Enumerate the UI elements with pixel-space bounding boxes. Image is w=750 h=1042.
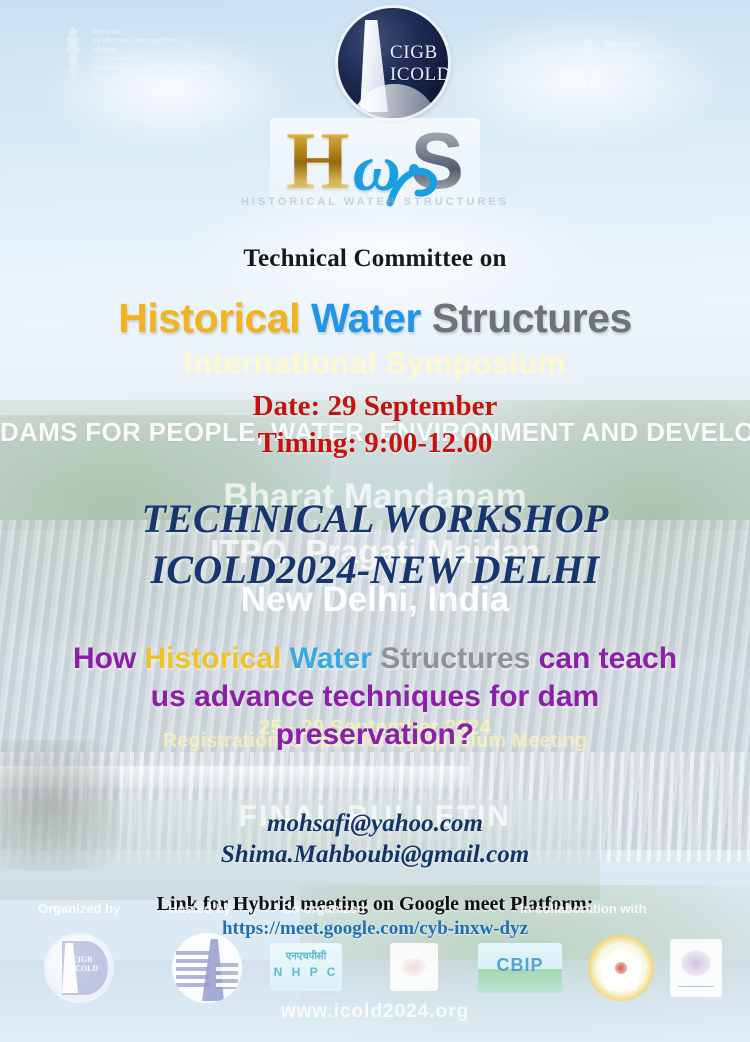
inchold-dam-logo [172, 933, 242, 1003]
contact-emails: mohsafi@yahoo.com Shima.Mahboubi@gmail.c… [0, 808, 750, 870]
partner-divider [678, 986, 714, 987]
contact-email-1[interactable]: mohsafi@yahoo.com [0, 808, 750, 839]
mop-hindi: विद्युत मंत्रालय [605, 40, 666, 51]
cbip-label: CBIP [478, 955, 562, 976]
hws-letter-h: H [286, 120, 350, 202]
partner-emblem-icon [402, 958, 426, 976]
cbip-logo: CBIP [478, 943, 562, 993]
emblem-left-line-0: भारत सरकार [92, 30, 214, 37]
title-part-water: Water [311, 295, 421, 341]
event-time: Timing: 9:00-12.00 [0, 425, 750, 462]
question-word-structures: Structures [380, 642, 530, 675]
emblem-left-line-4: Government of India, Ministry of Jal Sha… [92, 66, 214, 73]
committee-line: Technical Committee on [0, 245, 750, 273]
emblem-left-line-1: जल शक्ति मंत्रालय, जल संसाधन विभाग [92, 39, 214, 46]
question-line-1: How Historical Water Structures can teac… [34, 640, 716, 678]
icold-small-line1: CIGB [72, 955, 98, 964]
question-word-historical: Historical [145, 642, 282, 675]
mop-line-1: MINISTRY OF [605, 51, 666, 62]
title-part-historical: Historical [118, 295, 300, 341]
icold-logo-text: CIGB ICOLD [390, 42, 448, 86]
dam-stripes2-icon [216, 963, 238, 989]
gov-emblem-left-text: भारत सरकार जल शक्ति मंत्रालय, जल संसाधन … [92, 27, 214, 82]
ashoka-emblem-icon [62, 27, 84, 79]
ministry-of-power-text: विद्युत मंत्रालय MINISTRY OF POWER [605, 38, 666, 73]
page-title: Historical Water Structures [0, 295, 750, 342]
event-date: Date: 29 September [0, 388, 750, 425]
cigb-icold-logo: CIGB ICOLD [338, 8, 448, 118]
event-datetime: Date: 29 September Timing: 9:00-12.00 [0, 388, 750, 462]
mop-line-2: POWER [605, 62, 666, 73]
nhpc-logo: एनएचपीसी N H P C [270, 943, 342, 991]
emblem-left-line-2: नदी विकास [92, 48, 214, 55]
nhpc-english-text: N H P C [270, 965, 342, 979]
partner-logo-row: CIGB ICOLD एनएचपीसी N H P C CBIP [0, 925, 750, 995]
question-word-how: How [73, 642, 136, 675]
workshop-line-2: ICOLD2024-NEW DELHI [0, 544, 750, 595]
partner-white-logo [390, 943, 438, 991]
emblem-left-line-3: और गंगा संरक्षण विभाग [92, 57, 214, 64]
emblem-left-line-5: Department of Water Resources, RD & GR [92, 75, 214, 82]
hws-logo-subtitle: HISTORICAL WATER STRUCTURES [0, 196, 750, 208]
gov-india-jalshakti-emblem: भारत सरकार जल शक्ति मंत्रालय, जल संसाधन … [62, 27, 214, 82]
ministry-of-power-emblem: विद्युत मंत्रालय MINISTRY OF POWER [578, 38, 666, 86]
contact-email-2[interactable]: Shima.Mahboubi@gmail.com [0, 839, 750, 870]
icold-logo-line1: CIGB [390, 42, 448, 64]
partner-emblem-icon-2 [681, 950, 711, 976]
icold-logo-line2: ICOLD [390, 64, 448, 86]
question-word-water: Water [290, 642, 372, 675]
ashoka-emblem-icon [578, 38, 598, 86]
question-word-canteach: can teach [539, 642, 677, 675]
question-line-3: preservation? [34, 716, 716, 754]
poster-root: International Symposium DAMS FOR PEOPLE,… [0, 0, 750, 1042]
icold-small-text: CIGB ICOLD [72, 955, 98, 973]
workshop-question: How Historical Water Structures can teac… [0, 640, 750, 754]
hws-logo: H ω S [0, 118, 750, 208]
workshop-heading: TECHNICAL WORKSHOP ICOLD2024-NEW DELHI [0, 493, 750, 595]
pentagon-core-icon [615, 962, 627, 974]
icold-small-line2: ICOLD [72, 964, 98, 973]
partner-white-logo-2 [670, 939, 722, 997]
workshop-line-1: TECHNICAL WORKSHOP [0, 493, 750, 544]
question-line-2: us advance techniques for dam [34, 678, 716, 716]
title-part-structures: Structures [432, 295, 632, 341]
nhpc-hindi-text: एनएचपीसी [270, 948, 342, 962]
hws-logo-box: H ω S [270, 118, 480, 208]
yellow-circle-logo [588, 935, 654, 1001]
meeting-link-label: Link for Hybrid meeting on Google meet P… [0, 893, 750, 916]
cigb-icold-logo-small: CIGB ICOLD [46, 935, 112, 1001]
